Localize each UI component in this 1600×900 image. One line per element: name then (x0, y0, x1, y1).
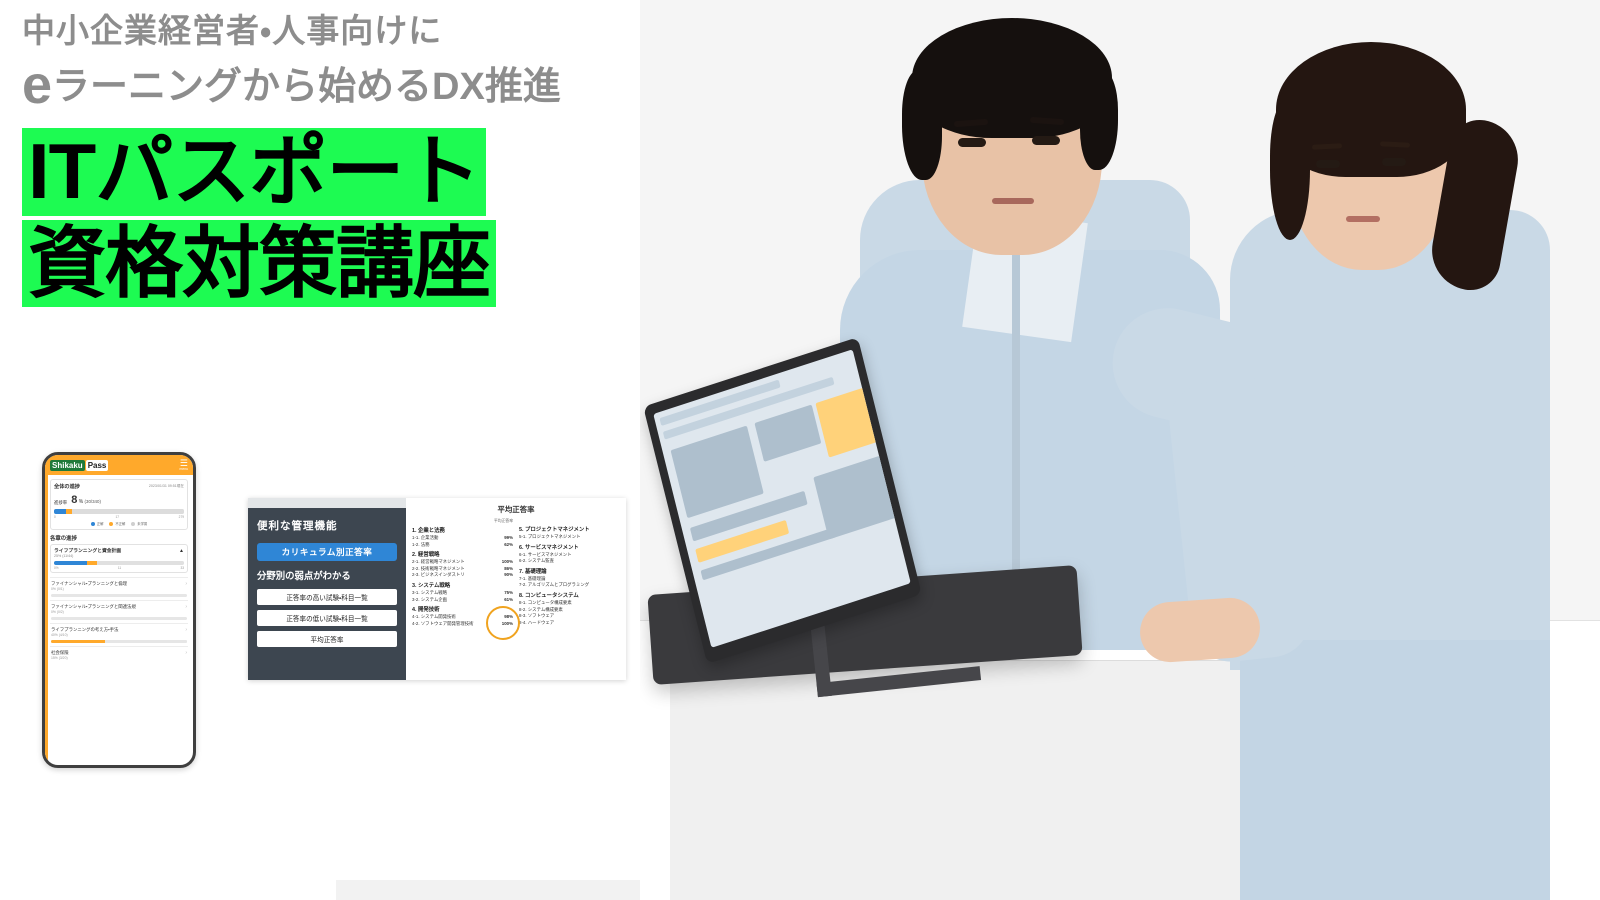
overall-progress-timestamp: 2023/01/31 09:51現在 (149, 484, 184, 489)
axis-tick-1: 17 (115, 515, 119, 519)
table-row: 6-2. システム監査 (519, 558, 620, 565)
group-title: 8. コンピュータシステム (519, 591, 620, 599)
column-header-accuracy: 平均正答率 (412, 519, 513, 524)
chapter-axis-1: 11 (118, 566, 121, 570)
progress-rate-label: 進捗率 (54, 500, 67, 506)
chapters-section-title: 各章の進捗 (50, 534, 188, 542)
phone-app-header: Shikaku Pass ☰menu (45, 455, 193, 475)
menu-label: menu (180, 468, 188, 471)
headline-e-mark: e (22, 55, 52, 115)
dashboard-mockup: 便利な管理機能 カリキュラム別正答率 分野別の弱点がわかる 正答率の高い試験・科… (248, 498, 626, 680)
overall-progress-value-row: 進捗率 8 % (30/340) (54, 494, 184, 506)
bar-unstudied (72, 509, 184, 514)
admin-panel-subtitle: 分野別の弱点がわかる (257, 568, 397, 582)
chevron-right-icon[interactable]: › (185, 627, 187, 633)
hamburger-menu-icon[interactable]: ☰menu (180, 459, 188, 471)
progress-rate-fraction: (30/340) (85, 499, 101, 504)
headline-line-2: eラーニングから始めるDX推進 (22, 59, 662, 116)
chevron-right-icon[interactable]: › (185, 650, 187, 656)
chevron-up-icon[interactable]: ▲ (179, 548, 184, 554)
accuracy-report: 平均正答率 平均正答率 1. 企業と法務 1-1. 企業活動99% 1-2. 法… (406, 498, 626, 680)
table-row: 8-1. コンピュータ構成要素 (519, 600, 620, 607)
progress-rate-unit: % (79, 499, 83, 505)
admin-panel-title: 便利な管理機能 (257, 518, 397, 533)
overall-progress-header: 全体の進捗 2023/01/31 09:51現在 (54, 483, 184, 490)
high-accuracy-list-button[interactable]: 正答率の高い試験・科目一覧 (257, 589, 397, 605)
man-hair-right (1080, 70, 1118, 170)
app-logo-left: Shikaku (50, 460, 85, 471)
headline-line-1: 中小企業経営者・人事向けに (22, 10, 662, 51)
man-zipper (1012, 250, 1020, 580)
curriculum-accuracy-button[interactable]: カリキュラム別正答率 (257, 543, 397, 561)
legend-correct: 正解 (91, 521, 104, 526)
overall-progress-legend: 正解 不正解 未学習 (54, 521, 184, 526)
headline-line-2-text: ラーニングから始めるDX推進 (52, 66, 561, 108)
man-eye-right (1032, 136, 1060, 145)
woman-eye-left (1316, 160, 1340, 168)
chevron-right-icon[interactable]: › (185, 604, 187, 610)
chapter-expanded-card[interactable]: ライフプランニングと資金計画 ▲ 25% (11/44) 0% 11 33 (50, 544, 188, 573)
table-row: 1-1. 企業活動99% (412, 535, 513, 542)
legend-unstudied: 未学習 (131, 521, 147, 526)
hero-photo (640, 0, 1600, 900)
legend-incorrect: 不正解 (109, 521, 125, 526)
list-item[interactable]: ライフプランニングの考え方・手法› 40% (4/10) (50, 623, 188, 646)
phone-mockup: Shikaku Pass ☰menu 全体の進捗 2023/01/31 09:5… (42, 452, 196, 768)
table-row: 2-1. 経営戦略マネジメント100% (412, 559, 513, 566)
chapter-sub: 15% (3/20) (51, 656, 187, 660)
man-hair-left (902, 70, 942, 180)
table-row: 7-2. アルゴリズムとプログラミング (519, 582, 620, 589)
low-accuracy-list-button[interactable]: 正答率の低い試験・科目一覧 (257, 610, 397, 626)
table-row: 3-1. システム戦略75% (412, 590, 513, 597)
man-eye-left (958, 138, 986, 147)
axis-tick-0: 0 (54, 515, 56, 519)
report-column-right: - 5. プロジェクトマネジメント 5-1. プロジェクトマネジメント 6. サ… (519, 519, 620, 627)
table-row: 8-4. ハードウェア (519, 620, 620, 627)
overall-progress-axis: 0 17 279 (54, 515, 184, 519)
admin-feature-panel: 便利な管理機能 カリキュラム別正答率 分野別の弱点がわかる 正答率の高い試験・科… (248, 508, 406, 680)
chapter-sub: 40% (4/10) (51, 633, 187, 637)
app-logo: Shikaku Pass (50, 460, 108, 471)
chevron-right-icon[interactable]: › (185, 581, 187, 587)
group-title: 1. 企業と法務 (412, 526, 513, 534)
table-row: 8-3. ソフトウェア (519, 613, 620, 620)
report-title: 平均正答率 (412, 504, 620, 515)
chapter-axis-2: 33 (180, 566, 184, 570)
group-title: 2. 経営戦略 (412, 550, 513, 558)
dashboard-top-strip (248, 498, 406, 508)
woman-eye-right (1382, 158, 1406, 166)
headline-highlight-1: ITパスポート (22, 128, 486, 215)
average-accuracy-button[interactable]: 平均正答率 (257, 631, 397, 647)
group-title: 7. 基礎理論 (519, 567, 620, 575)
woman-trousers (1240, 640, 1550, 900)
bar-correct (54, 509, 66, 514)
axis-tick-2: 279 (179, 515, 184, 519)
man-mouth (992, 198, 1034, 204)
highlight-circle (486, 606, 520, 640)
group-title: 3. システム戦略 (412, 581, 513, 589)
highlight-value-1: 75% (504, 590, 513, 597)
chapter-sub: 0% (0/2) (51, 610, 187, 614)
chapter-expanded-header[interactable]: ライフプランニングと資金計画 ▲ (54, 547, 184, 554)
woman-hand (1138, 596, 1262, 664)
table-row: 1-2. 法務62% (412, 542, 513, 549)
chapter-sub: 25% (11/44) (54, 554, 184, 558)
headline-block: 中小企業経営者・人事向けに eラーニングから始めるDX推進 ITパスポート 資格… (22, 10, 662, 307)
woman-mouth (1346, 216, 1380, 222)
list-item[interactable]: ファイナンシャル・プランニングと関連法規› 0% (0/2) (50, 600, 188, 623)
progress-rate-value: 8 (71, 494, 77, 506)
group-title: 6. サービスマネジメント (519, 543, 620, 551)
chapter-name: ライフプランニングと資金計画 (54, 547, 121, 554)
phone-accent-bar (45, 455, 48, 765)
photo-desk-front (670, 660, 1270, 900)
list-item[interactable]: ファイナンシャル・プランニングと倫理› 0% (0/1) (50, 577, 188, 600)
chapter-sub: 0% (0/1) (51, 587, 187, 591)
table-row: 3-2. システム企画61% (412, 597, 513, 604)
list-item[interactable]: 社会保険› 15% (3/20) (50, 646, 188, 663)
overall-progress-bar (54, 509, 184, 514)
headline-highlight-2: 資格対策講座 (22, 220, 496, 307)
table-row: 2-3. ビジネスインダストリ90% (412, 572, 513, 579)
overall-progress-card: 全体の進捗 2023/01/31 09:51現在 進捗率 8 % (30/340… (50, 479, 188, 530)
woman-hair-side (1270, 100, 1310, 240)
app-logo-right: Pass (86, 460, 109, 471)
table-row: 5-1. プロジェクトマネジメント (519, 534, 620, 541)
highlight-value-2: 61% (504, 597, 513, 604)
chapter-axis-0: 0% (54, 566, 59, 570)
group-title: 5. プロジェクトマネジメント (519, 525, 620, 533)
overall-progress-title: 全体の進捗 (54, 483, 80, 490)
phone-content: 全体の進捗 2023/01/31 09:51現在 進捗率 8 % (30/340… (45, 475, 193, 667)
